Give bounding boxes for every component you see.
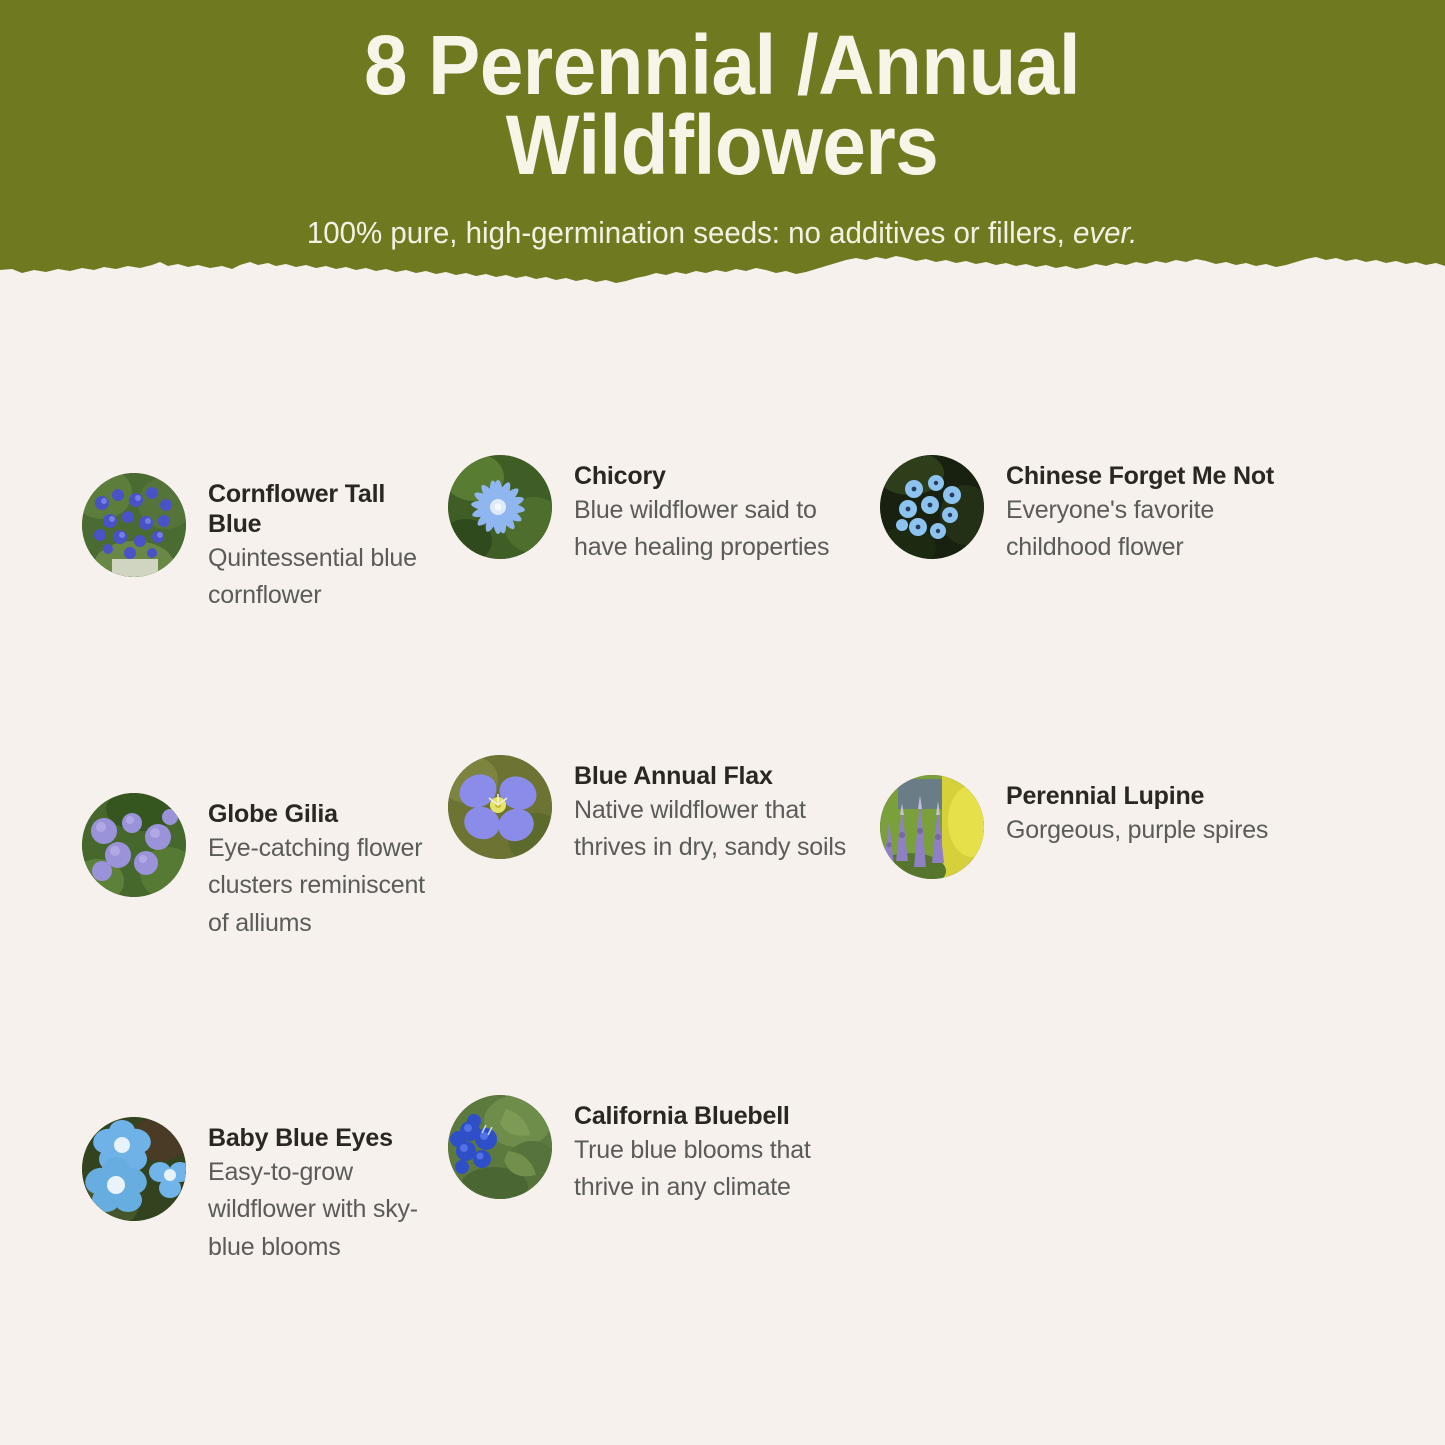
perennial-lupine-thumbnail <box>880 775 984 879</box>
flower-description: Native wildflower that thrives in dry, s… <box>574 792 864 867</box>
cornflower-tall-blue-thumbnail <box>82 473 186 577</box>
chinese-forget-me-not-thumbnail <box>880 455 984 559</box>
flower-description: True blue blooms that thrive in any clim… <box>574 1132 864 1207</box>
flower-description: Everyone's favorite childhood flower <box>1006 492 1286 567</box>
flower-name: Globe Gilia <box>208 799 440 829</box>
wildflower-seed-infographic: 8 Perennial /Annual Wildflowers 100% pur… <box>0 0 1445 1445</box>
list-item[interactable]: Blue Annual Flax Native wildflower that … <box>440 755 880 1095</box>
page-title: 8 Perennial /Annual Wildflowers <box>364 26 1080 186</box>
baby-blue-eyes-thumbnail <box>82 1117 186 1221</box>
list-item[interactable]: Globe Gilia Eye-catching flower clusters… <box>0 793 440 1095</box>
list-item[interactable]: Perennial Lupine Gorgeous, purple spires <box>880 775 1330 1095</box>
list-item[interactable]: California Bluebell True blue blooms tha… <box>440 1095 880 1395</box>
globe-gilia-thumbnail <box>82 793 186 897</box>
list-item[interactable]: Cornflower Tall Blue Quintessential blue… <box>0 473 440 775</box>
california-bluebell-thumbnail <box>448 1095 552 1199</box>
flower-list: Cornflower Tall Blue Quintessential blue… <box>0 455 1445 1395</box>
flower-name: Blue Annual Flax <box>574 761 864 791</box>
list-item[interactable]: Chinese Forget Me Not Everyone's favorit… <box>880 455 1330 775</box>
flower-description: Easy-to-grow wildflower with sky-blue bl… <box>208 1154 440 1266</box>
page-title-line-2: Wildflowers <box>506 98 939 192</box>
flower-description: Quintessential blue cornflower <box>208 540 440 615</box>
flower-name: California Bluebell <box>574 1101 864 1131</box>
empty-cell <box>880 1095 1330 1395</box>
blue-annual-flax-thumbnail <box>448 755 552 859</box>
chicory-thumbnail <box>448 455 552 559</box>
list-item[interactable]: Baby Blue Eyes Easy-to-grow wildflower w… <box>0 1117 440 1395</box>
flower-row: Baby Blue Eyes Easy-to-grow wildflower w… <box>0 1095 1445 1395</box>
flower-description: Eye-catching flower clusters reminiscent… <box>208 830 440 942</box>
flower-name: Chinese Forget Me Not <box>1006 461 1286 491</box>
flower-name: Perennial Lupine <box>1006 781 1268 811</box>
flower-name: Baby Blue Eyes <box>208 1123 440 1153</box>
flower-description: Blue wildflower said to have healing pro… <box>574 492 864 567</box>
header-banner: 8 Perennial /Annual Wildflowers 100% pur… <box>0 0 1445 300</box>
flower-name: Cornflower Tall Blue <box>208 479 440 539</box>
flower-row: Cornflower Tall Blue Quintessential blue… <box>0 455 1445 775</box>
flower-description: Gorgeous, purple spires <box>1006 812 1268 849</box>
torn-paper-edge-icon <box>0 240 1445 300</box>
flower-row: Globe Gilia Eye-catching flower clusters… <box>0 775 1445 1095</box>
list-item[interactable]: Chicory Blue wildflower said to have hea… <box>440 455 880 775</box>
flower-name: Chicory <box>574 461 864 491</box>
